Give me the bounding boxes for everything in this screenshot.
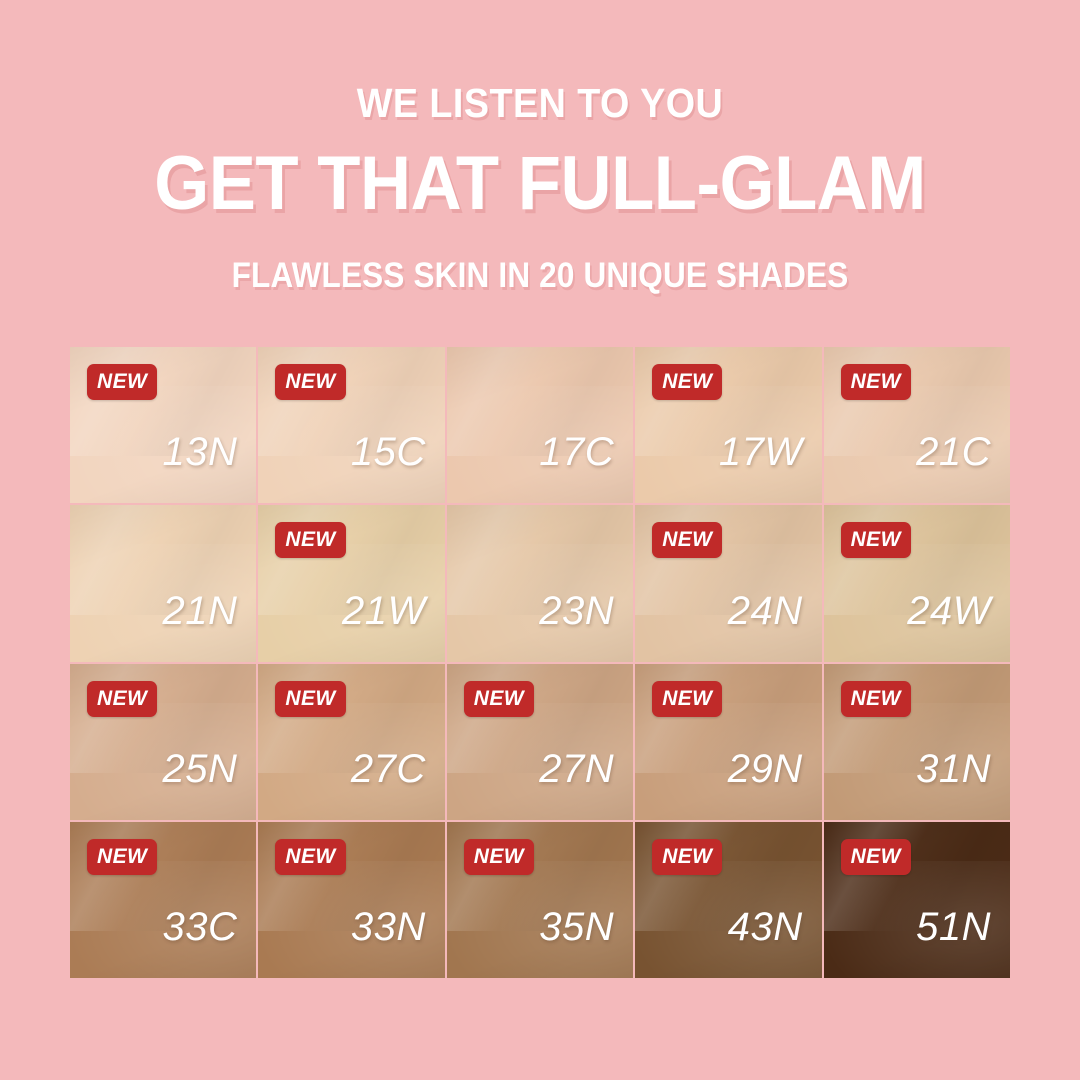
new-badge: NEW: [652, 839, 722, 875]
shade-swatch[interactable]: NEW27C: [258, 664, 444, 820]
shade-swatch[interactable]: NEW27N: [447, 664, 633, 820]
shade-swatch[interactable]: NEW43N: [635, 822, 821, 978]
shade-swatch[interactable]: NEW51N: [824, 822, 1010, 978]
shade-code-label: 13N: [163, 432, 238, 472]
shade-code-label: 17C: [539, 432, 614, 472]
shade-swatch[interactable]: NEW21W: [258, 505, 444, 661]
new-badge: NEW: [841, 681, 911, 717]
shade-code-label: 33C: [163, 907, 238, 947]
new-badge: NEW: [841, 839, 911, 875]
shade-swatch[interactable]: NEW17W: [635, 347, 821, 503]
header-block: WE LISTEN TO YOU GET THAT FULL-GLAM FLAW…: [0, 78, 1080, 298]
shade-swatch[interactable]: NEW33N: [258, 822, 444, 978]
new-badge: NEW: [275, 681, 345, 717]
swatch-vignette: [447, 347, 633, 503]
shade-swatch[interactable]: NEW15C: [258, 347, 444, 503]
shade-code-label: 51N: [916, 907, 991, 947]
shade-code-label: 24W: [907, 591, 991, 631]
new-badge: NEW: [275, 839, 345, 875]
page-title: GET THAT FULL-GLAM: [38, 142, 1042, 226]
shade-code-label: 23N: [539, 591, 614, 631]
shade-swatch[interactable]: NEW24W: [824, 505, 1010, 661]
subtitle-text: FLAWLESS SKIN IN 20 UNIQUE SHADES: [54, 254, 1026, 298]
shade-swatch[interactable]: NEW21C: [824, 347, 1010, 503]
shade-code-label: 21N: [163, 591, 238, 631]
new-badge: NEW: [652, 522, 722, 558]
new-badge: NEW: [464, 839, 534, 875]
shade-swatch[interactable]: NEW24N: [635, 505, 821, 661]
shade-swatch[interactable]: NEW13N: [70, 347, 256, 503]
new-badge: NEW: [652, 681, 722, 717]
swatch-vignette: [447, 505, 633, 661]
shade-swatch[interactable]: 23N: [447, 505, 633, 661]
shade-code-label: 17W: [719, 432, 803, 472]
shade-code-label: 15C: [351, 432, 426, 472]
shade-code-label: 33N: [351, 907, 426, 947]
new-badge: NEW: [841, 364, 911, 400]
shade-swatch[interactable]: 17C: [447, 347, 633, 503]
promo-page: WE LISTEN TO YOU GET THAT FULL-GLAM FLAW…: [0, 0, 1080, 1080]
shade-swatch[interactable]: NEW31N: [824, 664, 1010, 820]
swatch-vignette: [70, 505, 256, 661]
shade-swatch-grid: NEW13NNEW15C17CNEW17WNEW21C21NNEW21W23NN…: [70, 347, 1010, 978]
new-badge: NEW: [275, 364, 345, 400]
new-badge: NEW: [464, 681, 534, 717]
shade-code-label: 31N: [916, 749, 991, 789]
new-badge: NEW: [87, 364, 157, 400]
shade-code-label: 35N: [539, 907, 614, 947]
shade-swatch[interactable]: NEW29N: [635, 664, 821, 820]
shade-swatch[interactable]: NEW35N: [447, 822, 633, 978]
shade-code-label: 21C: [916, 432, 991, 472]
shade-code-label: 25N: [163, 749, 238, 789]
new-badge: NEW: [652, 364, 722, 400]
shade-code-label: 24N: [728, 591, 803, 631]
shade-swatch[interactable]: NEW25N: [70, 664, 256, 820]
kicker-text: WE LISTEN TO YOU: [43, 78, 1037, 128]
shade-code-label: 27N: [539, 749, 614, 789]
new-badge: NEW: [841, 522, 911, 558]
shade-code-label: 43N: [728, 907, 803, 947]
new-badge: NEW: [87, 681, 157, 717]
shade-code-label: 29N: [728, 749, 803, 789]
new-badge: NEW: [87, 839, 157, 875]
new-badge: NEW: [275, 522, 345, 558]
shade-swatch[interactable]: NEW33C: [70, 822, 256, 978]
shade-code-label: 27C: [351, 749, 426, 789]
shade-swatch[interactable]: 21N: [70, 505, 256, 661]
shade-code-label: 21W: [342, 591, 426, 631]
